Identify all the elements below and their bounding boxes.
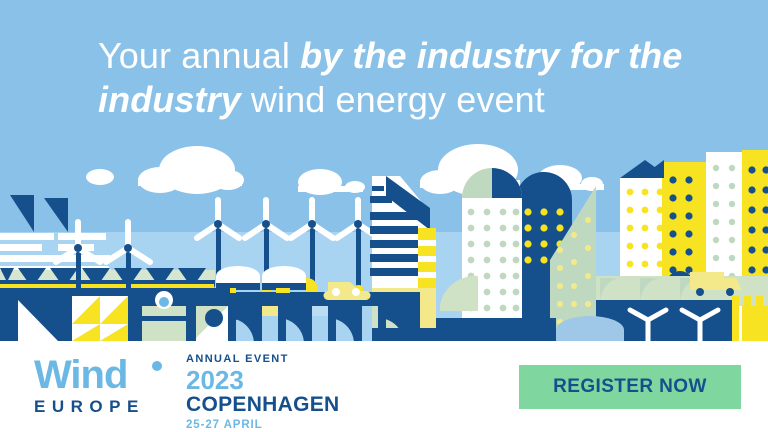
train bbox=[216, 266, 318, 293]
headline-part1: Your annual bbox=[98, 35, 300, 76]
event-details: ANNUAL EVENT 2023 COPENHAGEN 25-27 APRIL bbox=[186, 353, 340, 432]
register-now-button[interactable]: REGISTER NOW bbox=[519, 365, 741, 409]
logo-europe-text: EUROPE bbox=[34, 398, 145, 415]
windeurope-event-banner: Your annual by the industry for the indu… bbox=[0, 0, 768, 432]
logo-wind-text: Wind bbox=[34, 355, 127, 395]
logo-dot-icon bbox=[152, 361, 162, 371]
foreground-harbour-block bbox=[0, 288, 230, 341]
windeurope-logo[interactable]: Wind EUROPE bbox=[30, 351, 170, 423]
event-city: COPENHAGEN bbox=[186, 394, 340, 416]
car bbox=[324, 282, 371, 300]
headline: Your annual by the industry for the indu… bbox=[98, 34, 698, 122]
sailboats-group bbox=[0, 195, 122, 280]
event-year: 2023 bbox=[186, 367, 340, 394]
register-now-label: REGISTER NOW bbox=[553, 376, 707, 398]
headline-part2: wind energy event bbox=[241, 79, 545, 120]
event-dates: 25-27 APRIL bbox=[186, 418, 340, 432]
